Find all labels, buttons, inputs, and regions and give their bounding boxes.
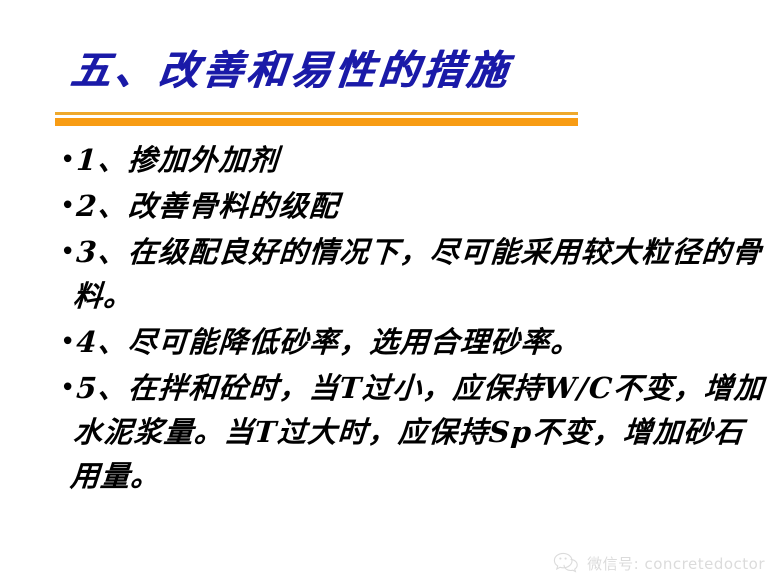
list-item: • 2、改善骨料的级配 <box>58 184 770 228</box>
list-item: • 3、在级配良好的情况下，尽可能采用较大粒径的骨料。 <box>58 230 770 318</box>
slide-title: 五、改善和易性的措施 <box>52 46 737 96</box>
list-item-text: 4、尽可能降低砂率，选用合理砂率。 <box>75 320 770 364</box>
wechat-icon <box>553 552 579 574</box>
list-item: • 5、在拌和砼时，当T过小，应保持W/C不变，增加水泥浆量。当T过大时，应保持… <box>58 366 770 498</box>
slide-canvas: 五、改善和易性的措施 • 1、掺加外加剂 • 2、改善骨料的级配 • 3、在级配… <box>0 0 783 588</box>
watermark: 微信号: concretedoctor <box>553 552 765 574</box>
title-block: 五、改善和易性的措施 <box>55 46 735 96</box>
bullet-list: • 1、掺加外加剂 • 2、改善骨料的级配 • 3、在级配良好的情况下，尽可能采… <box>58 138 770 500</box>
watermark-text: 微信号: concretedoctor <box>587 553 765 574</box>
list-item: • 4、尽可能降低砂率，选用合理砂率。 <box>58 320 770 364</box>
title-divider <box>55 112 578 126</box>
list-item: • 1、掺加外加剂 <box>58 138 770 182</box>
list-item-text: 5、在拌和砼时，当T过小，应保持W/C不变，增加水泥浆量。当T过大时，应保持Sp… <box>69 366 770 498</box>
divider-thick-bar <box>55 118 578 126</box>
list-item-text: 3、在级配良好的情况下，尽可能采用较大粒径的骨料。 <box>72 230 770 318</box>
list-item-text: 1、掺加外加剂 <box>75 138 770 182</box>
list-item-text: 2、改善骨料的级配 <box>75 184 770 228</box>
